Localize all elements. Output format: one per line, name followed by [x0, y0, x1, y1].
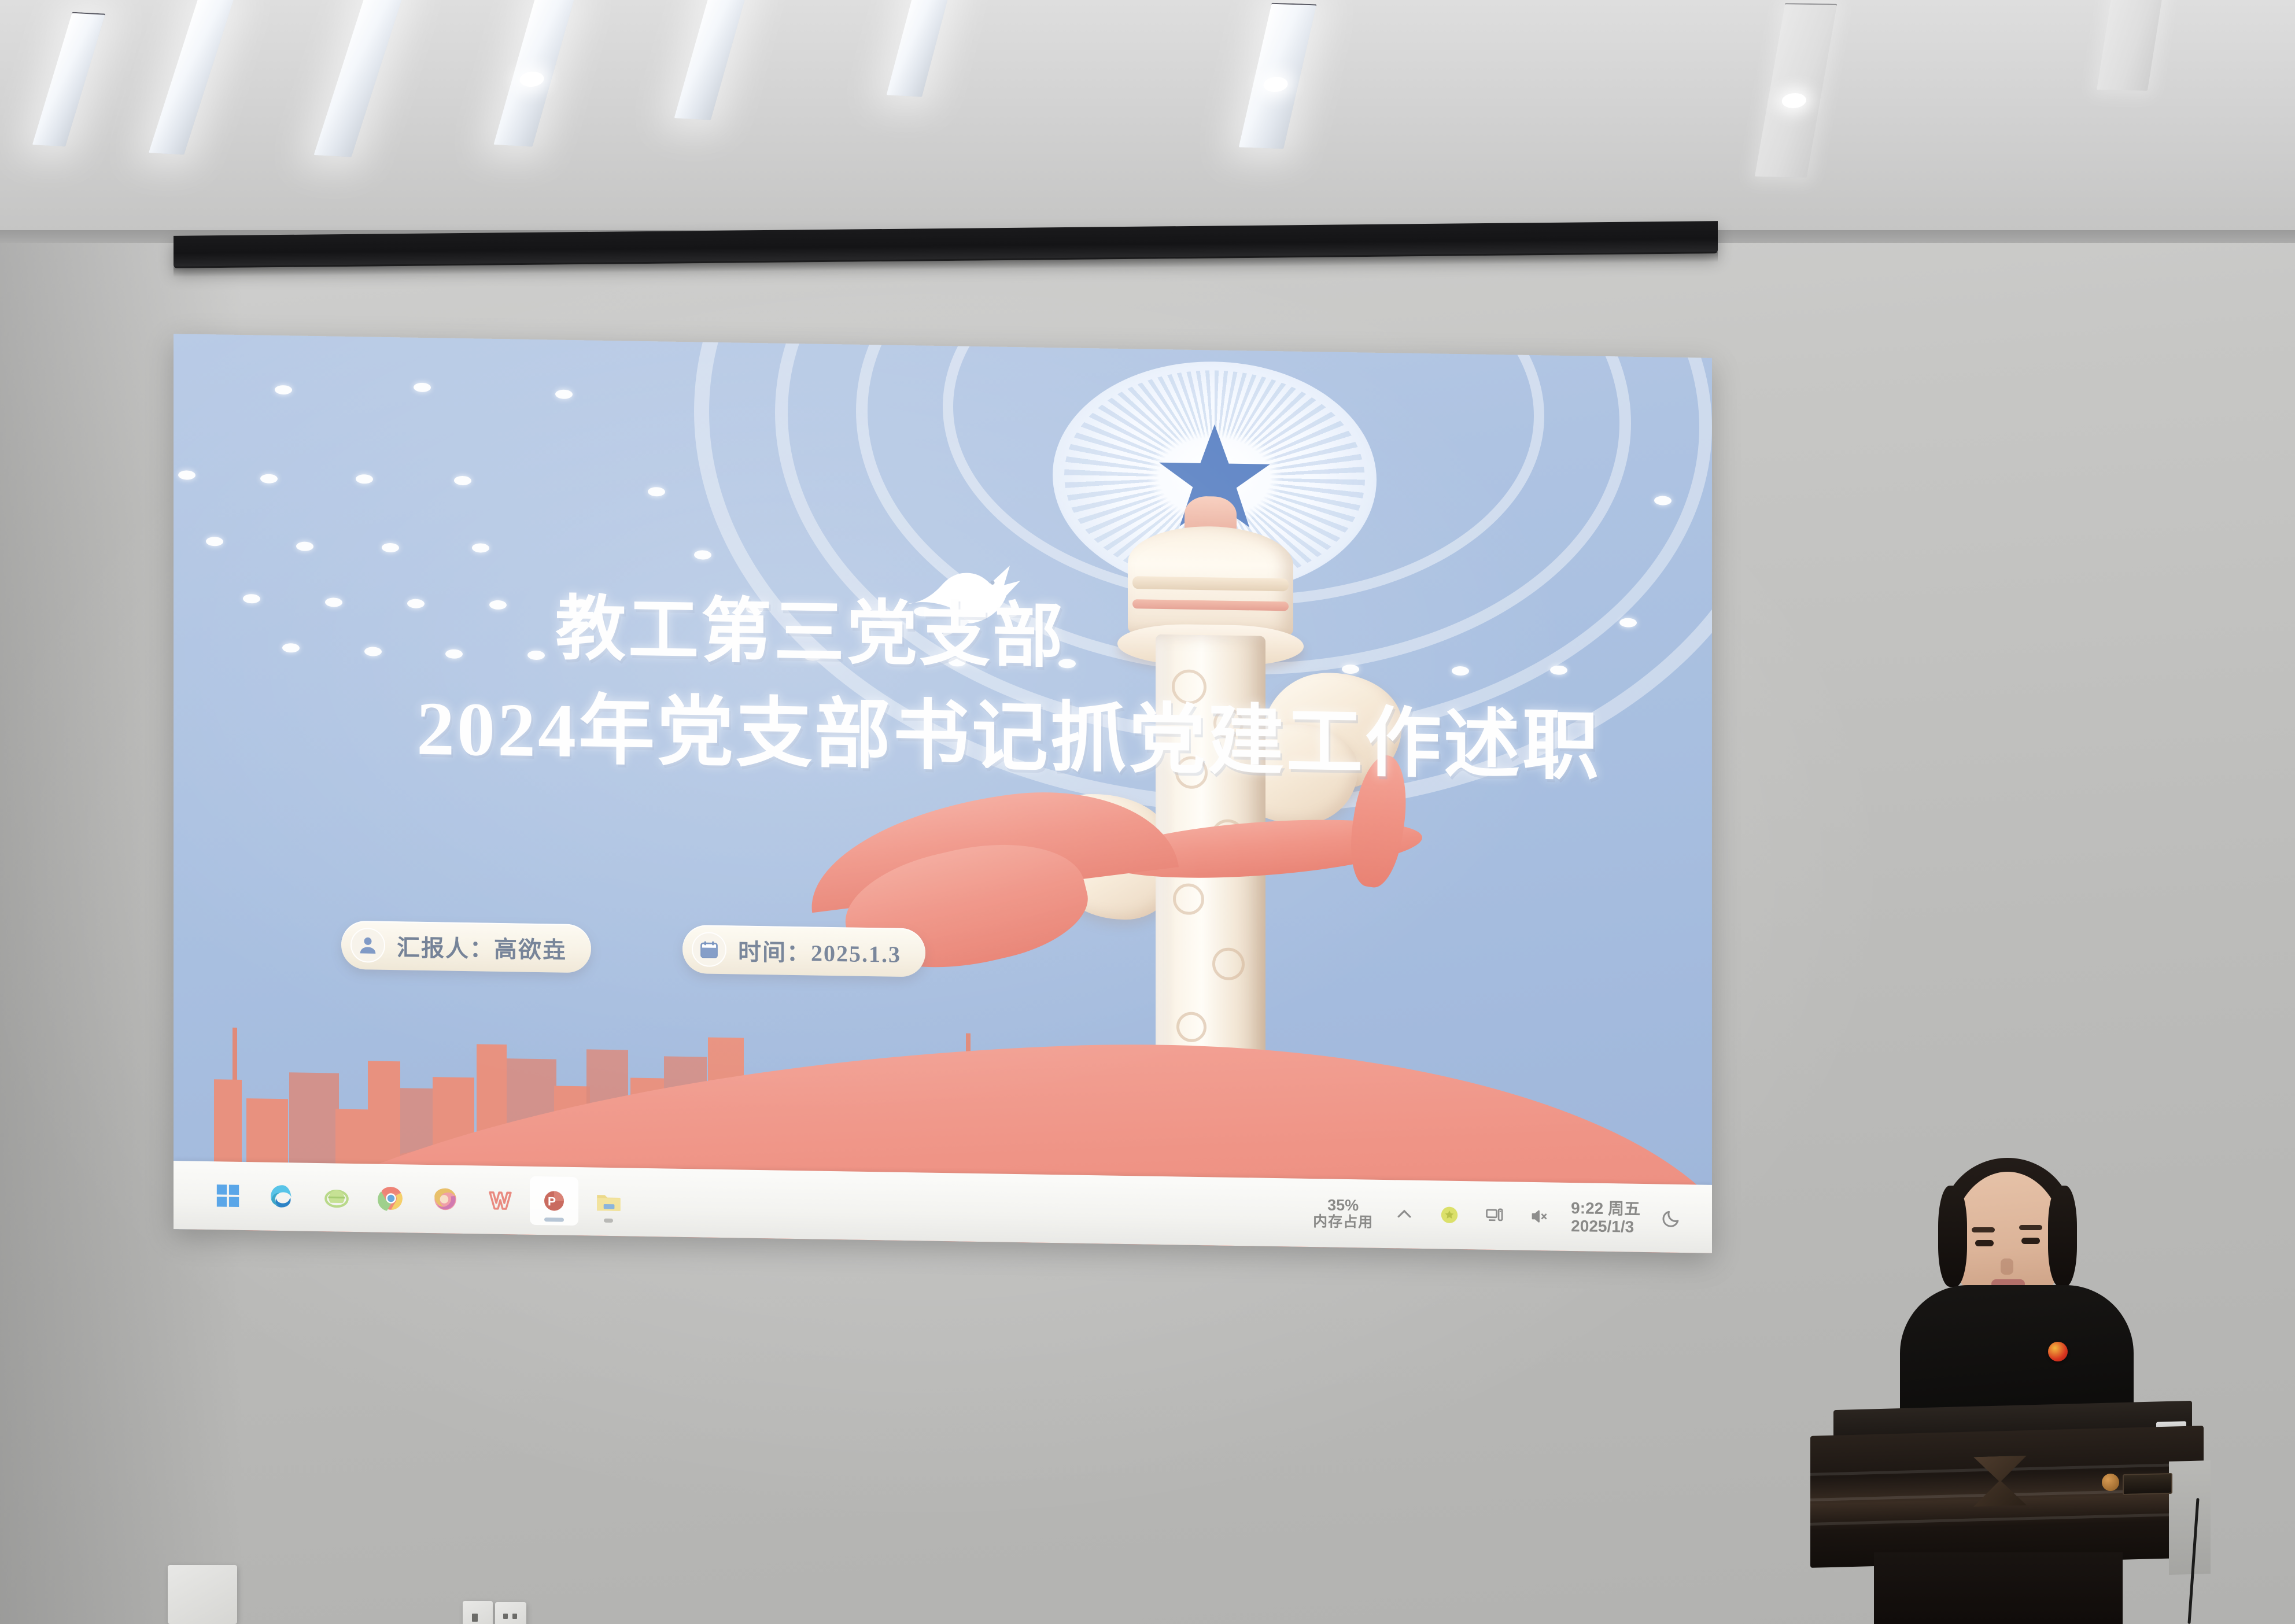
lectern-groove: [1810, 1512, 2204, 1526]
ceiling-light-dot: [1452, 666, 1469, 676]
ceiling-light-dot: [648, 487, 665, 496]
capital-band: [1132, 599, 1289, 611]
taskbar-app-list: P: [204, 1171, 633, 1227]
huabiao-capital: [1128, 525, 1293, 637]
shield-green-icon[interactable]: [1436, 1201, 1463, 1229]
memory-value: 35%: [1327, 1196, 1359, 1214]
ceiling-light-dot: [1654, 496, 1672, 505]
ceiling-light-dot: [414, 383, 431, 392]
cloud-relief: [1173, 883, 1204, 915]
ceiling-light-dot: [275, 385, 292, 394]
wall-outlet-left[interactable]: [463, 1601, 493, 1624]
outlet-hole: [503, 1614, 508, 1619]
firefox-icon[interactable]: [421, 1175, 470, 1224]
speaker-muted-icon[interactable]: [1526, 1202, 1554, 1231]
moon-icon[interactable]: [1658, 1204, 1685, 1232]
memory-label: 内存占用: [1313, 1213, 1373, 1231]
control-panel[interactable]: [2123, 1473, 2172, 1495]
svg-text:P: P: [548, 1195, 556, 1208]
lectern: [1810, 1405, 2227, 1624]
eyebrow-right: [2019, 1225, 2042, 1230]
slide-title: 教工第三党支部: [555, 571, 1065, 681]
edge-icon[interactable]: [258, 1172, 307, 1221]
date-pill: 时间：2025.1.3: [682, 925, 925, 977]
memory-usage-widget[interactable]: 35% 内存占用: [1313, 1196, 1373, 1231]
internet-explorer-icon[interactable]: [312, 1173, 361, 1222]
ceiling-light-dot: [296, 541, 313, 551]
ceiling-light-dot: [1550, 665, 1567, 674]
date-label: 时间：2025.1.3: [738, 933, 901, 969]
hair-right: [2048, 1186, 2077, 1287]
ceiling-light-dot: [178, 470, 195, 479]
ceiling-light-dot: [407, 599, 425, 608]
clock-time: 9:22 周五: [1571, 1199, 1640, 1218]
ceiling-light-dot: [382, 543, 399, 552]
eye-right: [2021, 1238, 2040, 1244]
ceiling-light-dot: [694, 550, 711, 559]
downlight-puck: [1262, 76, 1290, 92]
nose: [2001, 1258, 2013, 1275]
ceiling-light-dot: [282, 643, 300, 652]
powerpoint-icon[interactable]: P: [530, 1176, 578, 1226]
ceiling-light-dot: [243, 594, 260, 603]
downlight-puck: [518, 71, 546, 87]
party-emblem-pin: [2048, 1342, 2068, 1361]
wall-plate-large[interactable]: [168, 1565, 237, 1624]
start-button[interactable]: [204, 1171, 252, 1220]
ceiling-light-dot: [325, 597, 342, 607]
network-icon[interactable]: [1481, 1202, 1508, 1230]
slide-subtitle: 2024年党支部书记抓党建工作述职: [416, 666, 1601, 795]
ceiling-light-dot: [555, 389, 573, 398]
taskbar-clock[interactable]: 9:22 周五 2025/1/3: [1571, 1199, 1640, 1237]
room-scene: 教工第三党支部 2024年党支部书记抓党建工作述职 汇报人：高欲垚: [0, 0, 2295, 1624]
ceiling-light-dot: [472, 543, 489, 552]
ceiling-light-dot: [206, 537, 223, 546]
calendar-icon: [692, 932, 726, 967]
chevron-up-icon[interactable]: [1390, 1200, 1418, 1228]
hair-left: [1938, 1186, 1967, 1287]
reporter-pill: 汇报人：高欲垚: [341, 921, 591, 973]
wall-outlet-right[interactable]: [495, 1602, 526, 1624]
slide-canvas: 教工第三党支部 2024年党支部书记抓党建工作述职 汇报人：高欲垚: [174, 334, 1712, 1253]
chrome-icon[interactable]: [367, 1173, 415, 1223]
wps-icon[interactable]: [475, 1175, 524, 1224]
control-knob[interactable]: [2102, 1474, 2119, 1491]
reporter-label: 汇报人：高欲垚: [397, 929, 567, 965]
ceiling-light-dot: [260, 474, 278, 483]
ceiling-light-dot: [364, 647, 382, 656]
clock-date: 2025/1/3: [1571, 1217, 1634, 1236]
downlight-puck: [1781, 93, 1807, 109]
capital-band: [1132, 576, 1289, 591]
ceiling-light-dot: [445, 649, 463, 658]
active-indicator: [604, 1219, 613, 1223]
projection-screen: 教工第三党支部 2024年党支部书记抓党建工作述职 汇报人：高欲垚: [174, 334, 1712, 1253]
eyebrow-left: [1972, 1227, 1995, 1232]
person-icon: [350, 928, 385, 963]
file-explorer-icon[interactable]: [584, 1177, 633, 1226]
lectern-base: [1874, 1552, 2123, 1624]
system-tray: 35% 内存占用: [1313, 1195, 1685, 1237]
ceiling-light-dot: [454, 476, 471, 485]
ceiling-light-dot: [1619, 618, 1637, 627]
lectern-side: [2169, 1460, 2211, 1575]
outlet-hole: [472, 1614, 478, 1622]
ceiling-light-dot: [489, 600, 507, 610]
eye-left: [1975, 1240, 1994, 1246]
cloud-relief: [1212, 947, 1245, 980]
ceiling-light-dot: [356, 474, 373, 483]
ceiling-light-dot: [527, 651, 545, 660]
outlet-hole: [512, 1614, 517, 1619]
active-indicator: [544, 1217, 564, 1222]
